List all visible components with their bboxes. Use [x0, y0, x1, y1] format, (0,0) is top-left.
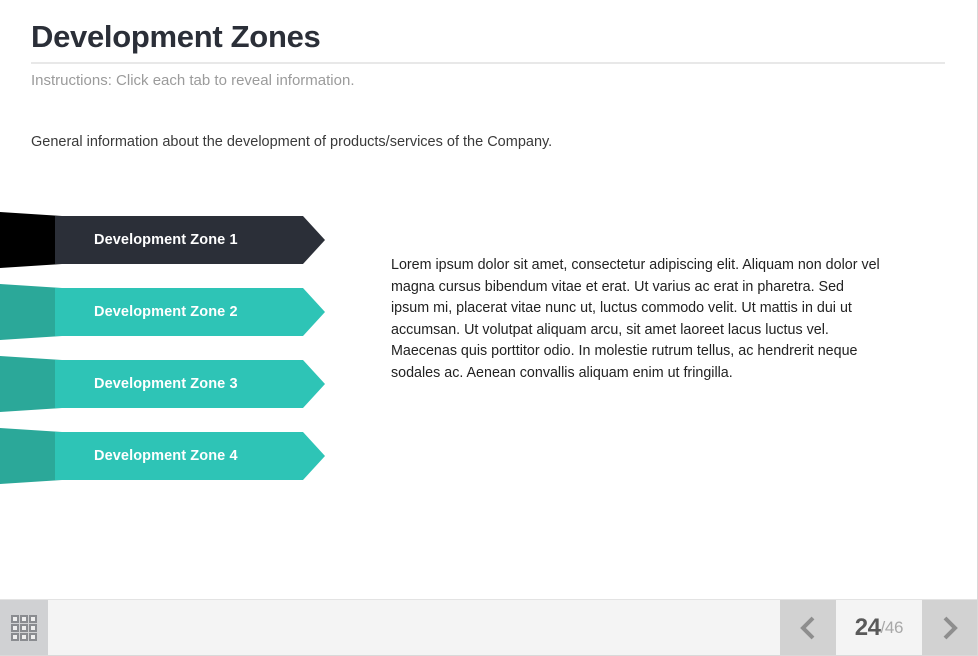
tab-tail-4 [0, 428, 62, 484]
instructions-text: Instructions: Click each tab to reveal i… [31, 72, 354, 89]
tab-list: Development Zone 1 Development Zone 2 De… [0, 212, 340, 500]
slide-canvas: Development Zones Instructions: Click ea… [0, 0, 978, 656]
tab-tail-3 [0, 356, 62, 412]
tab-shape-3 [0, 356, 330, 412]
tab-tail-2 [0, 284, 62, 340]
tab-tail-1 [0, 212, 62, 268]
bottom-navigation-bar: 24/46 [0, 599, 978, 655]
chevron-right-icon [939, 614, 961, 642]
chevron-left-icon [797, 614, 819, 642]
tab-body-1 [55, 216, 325, 264]
page-counter: 24/46 [836, 600, 922, 655]
tab-development-zone-4[interactable]: Development Zone 4 [0, 428, 340, 500]
tab-development-zone-2[interactable]: Development Zone 2 [0, 284, 340, 356]
total-page-count: /46 [880, 618, 903, 638]
prev-page-button[interactable] [780, 600, 836, 655]
bar-spacer [48, 600, 780, 655]
tab-body-4 [55, 432, 325, 480]
title-divider [31, 62, 945, 64]
tab-development-zone-1[interactable]: Development Zone 1 [0, 212, 340, 284]
current-page-number: 24 [855, 614, 881, 642]
tab-shape-1 [0, 212, 330, 268]
page-title: Development Zones [31, 20, 320, 54]
tab-development-zone-3[interactable]: Development Zone 3 [0, 356, 340, 428]
tab-shape-4 [0, 428, 330, 484]
grid-menu-icon[interactable] [0, 600, 48, 655]
tab-content-paragraph: Lorem ipsum dolor sit amet, consectetur … [391, 255, 883, 384]
intro-paragraph: General information about the developmen… [31, 134, 552, 150]
next-page-button[interactable] [922, 600, 978, 655]
tab-body-2 [55, 288, 325, 336]
tab-body-3 [55, 360, 325, 408]
tab-shape-2 [0, 284, 330, 340]
